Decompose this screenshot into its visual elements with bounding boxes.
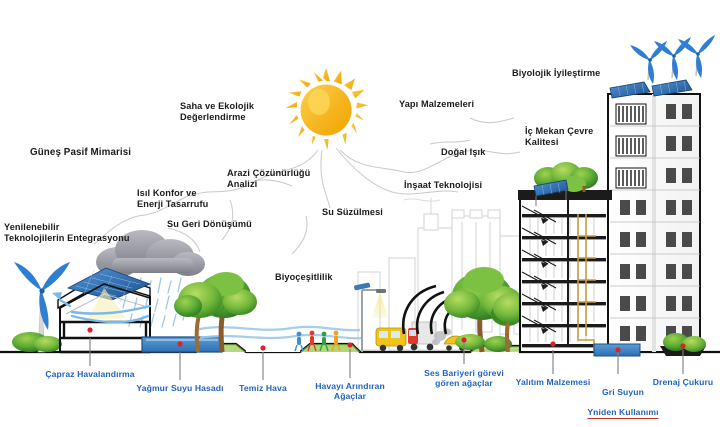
label-arazi-cozunurlugu-analizi: Arazi Çözünürlüğü Analizi [227,168,310,190]
callout-dot [177,341,182,346]
water-tank [594,344,640,356]
water-tank [142,337,222,352]
residential-tower [608,35,715,352]
callout-ses-bariyeri-goren-agaclar: Ses Bariyeri görevi gören ağaçlar [424,368,504,388]
label-dogal-isik: Doğal Işık [441,147,485,158]
callout-dot [87,327,92,332]
background-skyline [358,198,542,350]
label-saha-ve-ekolojik-degerlendirme: Saha ve Ekolojik Değerlendirme [180,101,254,123]
label-biyocesitlilik: Biyoçeşitlilik [275,272,333,283]
label-gunes-pasif-mimarisi: Güneş Pasif Mimarisi [30,147,131,159]
callout-yagmur-suyu-hasadi: Yağmur Suyu Hasadı [136,383,223,393]
callout-dot [347,342,352,347]
callout-dot [260,345,265,350]
wind-turbine-icon [678,35,715,78]
label-biyolojik-iyilestirme: Biyolojik İyileştirme [512,68,600,79]
callout-dot [680,343,685,348]
label-yenilenebilir-teknolojilerin-entegrasyonu: Yenilenebilir Teknolojilerin Entegrasyon… [4,222,130,244]
label-yapi-malzemeleri: Yapı Malzemeleri [399,99,474,110]
label-su-geri-donusumu: Su Geri Dönüşümü [167,219,252,230]
cross-ventilation-building [52,268,150,352]
callout-gri-suyun-line2: Yniden Kullanımı [587,407,658,418]
callout-dot [550,341,555,346]
callout-gri-suyun-line1: Gri Suyun [602,387,644,397]
label-ic-mekan-cevre-kalitesi: İç Mekan Çevre Kalitesi [525,126,593,148]
callout-capraz-havalandirma: Çapraz Havalandırma [45,369,134,379]
callout-havayi-arindiran-agaclar: Havayı Arındıran Ağaçlar [315,381,385,401]
callout-dot [461,337,466,342]
infographic-canvas: Güneş Pasif Mimarisi Yenilenebilir Tekno… [0,0,720,427]
callout-gri-suyun-yeniden-kullanimi: Gri Suyun Yniden Kullanımı [577,377,658,427]
label-isil-konfor-ve-enerji-tasarrufu: Isıl Konfor ve Enerji Tasarrufu [137,188,208,210]
callout-dot [615,347,620,352]
label-su-suzulmesi: Su Süzülmesi [322,207,383,218]
sun-icon [280,64,372,155]
callout-drenaj-cukuru: Drenaj Çukuru [653,377,714,387]
label-insaat-teknolojisi: İnşaat Teknolojisi [404,180,482,191]
callout-temiz-hava: Temiz Hava [239,383,287,393]
